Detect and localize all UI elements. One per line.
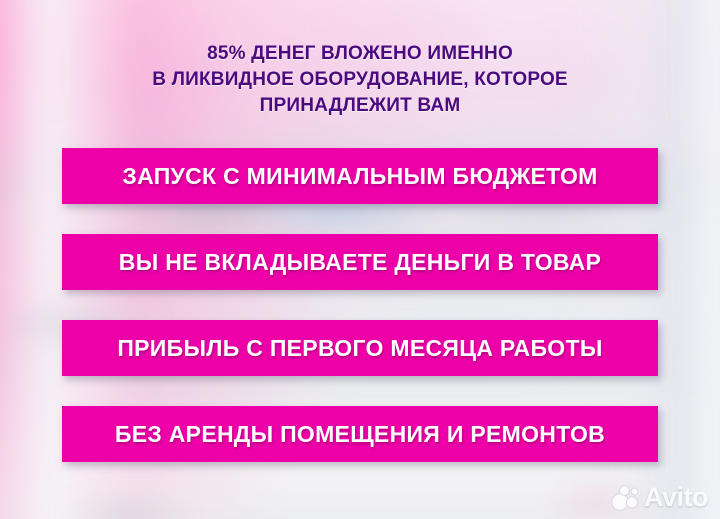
benefit-bar-label: ВЫ НЕ ВКЛАДЫВАЕТЕ ДЕНЬГИ В ТОВАР: [119, 251, 601, 274]
headline-line-2: В ЛИКВИДНОЕ ОБОРУДОВАНИЕ, КОТОРОЕ: [0, 67, 720, 93]
benefit-bar-label: ЗАПУСК С МИНИМАЛЬНЫМ БЮДЖЕТОМ: [122, 165, 597, 188]
benefit-bar-label: ПРИБЫЛЬ С ПЕРВОГО МЕСЯЦА РАБОТЫ: [117, 337, 602, 360]
benefit-bar: ВЫ НЕ ВКЛАДЫВАЕТЕ ДЕНЬГИ В ТОВАР: [62, 234, 658, 290]
headline-line-1: 85% ДЕНЕГ ВЛОЖЕНО ИМЕННО: [0, 41, 720, 67]
benefit-bar-list: ЗАПУСК С МИНИМАЛЬНЫМ БЮДЖЕТОМ ВЫ НЕ ВКЛА…: [62, 148, 658, 462]
benefit-bar: БЕЗ АРЕНДЫ ПОМЕЩЕНИЯ И РЕМОНТОВ: [62, 406, 658, 462]
benefit-bar: ЗАПУСК С МИНИМАЛЬНЫМ БЮДЖЕТОМ: [62, 148, 658, 204]
headline-line-3: ПРИНАДЛЕЖИТ ВАМ: [0, 93, 720, 119]
benefit-bar-label: БЕЗ АРЕНДЫ ПОМЕЩЕНИЯ И РЕМОНТОВ: [115, 423, 605, 446]
headline: 85% ДЕНЕГ ВЛОЖЕНО ИМЕННО В ЛИКВИДНОЕ ОБО…: [0, 41, 720, 119]
benefit-bar: ПРИБЫЛЬ С ПЕРВОГО МЕСЯЦА РАБОТЫ: [62, 320, 658, 376]
poster: 85% ДЕНЕГ ВЛОЖЕНО ИМЕННО В ЛИКВИДНОЕ ОБО…: [0, 0, 720, 519]
